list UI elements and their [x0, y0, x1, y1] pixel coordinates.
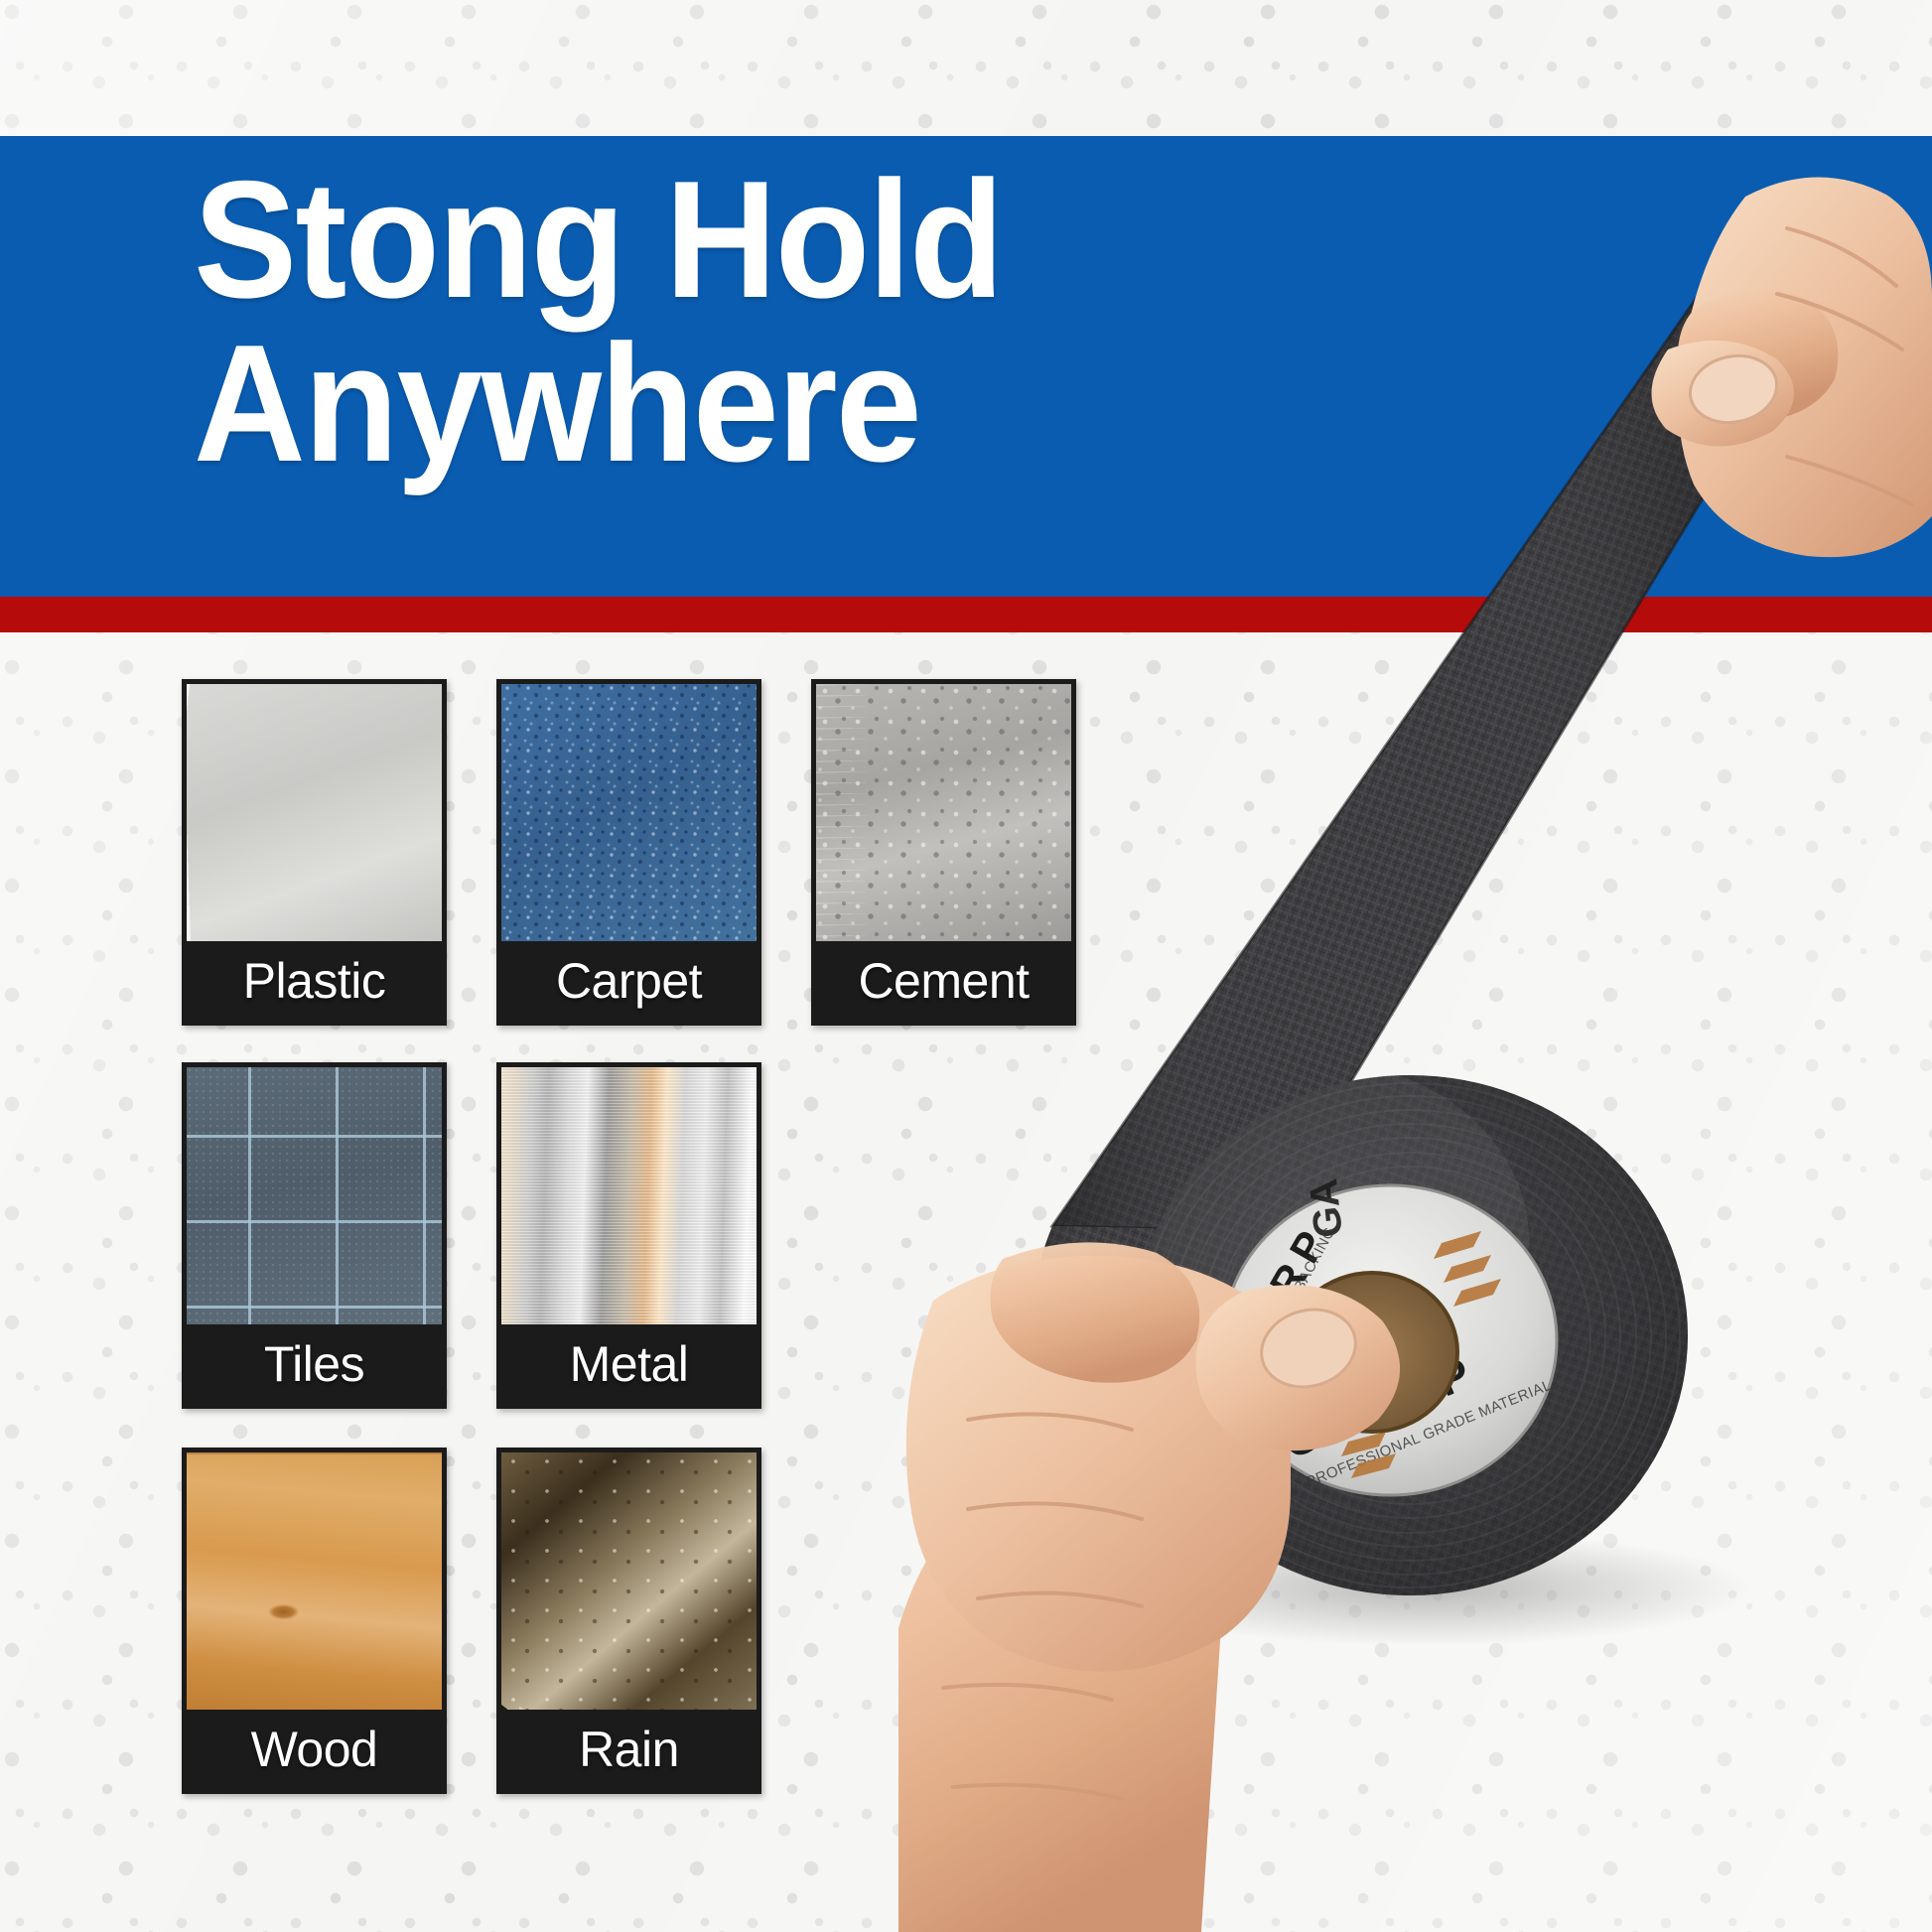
metal-swatch-image — [501, 1067, 757, 1324]
cement-swatch-image — [816, 684, 1071, 941]
tiles-swatch-image — [187, 1067, 442, 1324]
accent-stripe — [0, 597, 1932, 632]
wood-swatch-image — [187, 1452, 442, 1710]
surface-tile-cement[interactable]: Cement — [811, 679, 1076, 1026]
surface-label-band: Rain — [501, 1710, 757, 1789]
surface-tile-plastic[interactable]: Plastic — [182, 679, 447, 1026]
surface-label-text: Rain — [579, 1721, 679, 1778]
surface-label-band: Carpet — [501, 941, 757, 1021]
surface-tile-carpet[interactable]: Carpet — [496, 679, 761, 1026]
surface-tile-rain[interactable]: Rain — [496, 1448, 761, 1794]
surface-label-band: Cement — [816, 941, 1071, 1021]
rain-swatch-image — [501, 1452, 757, 1710]
page-title: Stong Hold Anywhere — [194, 158, 1283, 484]
headline-banner: Stong Hold Anywhere — [0, 136, 1932, 597]
surface-label-band: Wood — [187, 1710, 442, 1789]
surface-label-text: Wood — [251, 1721, 378, 1778]
surface-label-text: Metal — [570, 1335, 689, 1393]
surface-label-band: Metal — [501, 1324, 757, 1404]
surface-label-text: Carpet — [556, 952, 702, 1010]
surface-tile-wood[interactable]: Wood — [182, 1448, 447, 1794]
surface-label-text: Cement — [858, 952, 1029, 1010]
surface-label-text: Tiles — [264, 1335, 364, 1393]
surface-label-band: Tiles — [187, 1324, 442, 1404]
surface-label-text: Plastic — [243, 952, 386, 1010]
carpet-swatch-image — [501, 684, 757, 941]
surface-label-band: Plastic — [187, 941, 442, 1021]
plastic-swatch-image — [187, 684, 442, 941]
surface-tile-metal[interactable]: Metal — [496, 1062, 761, 1409]
surface-tile-tiles[interactable]: Tiles — [182, 1062, 447, 1409]
